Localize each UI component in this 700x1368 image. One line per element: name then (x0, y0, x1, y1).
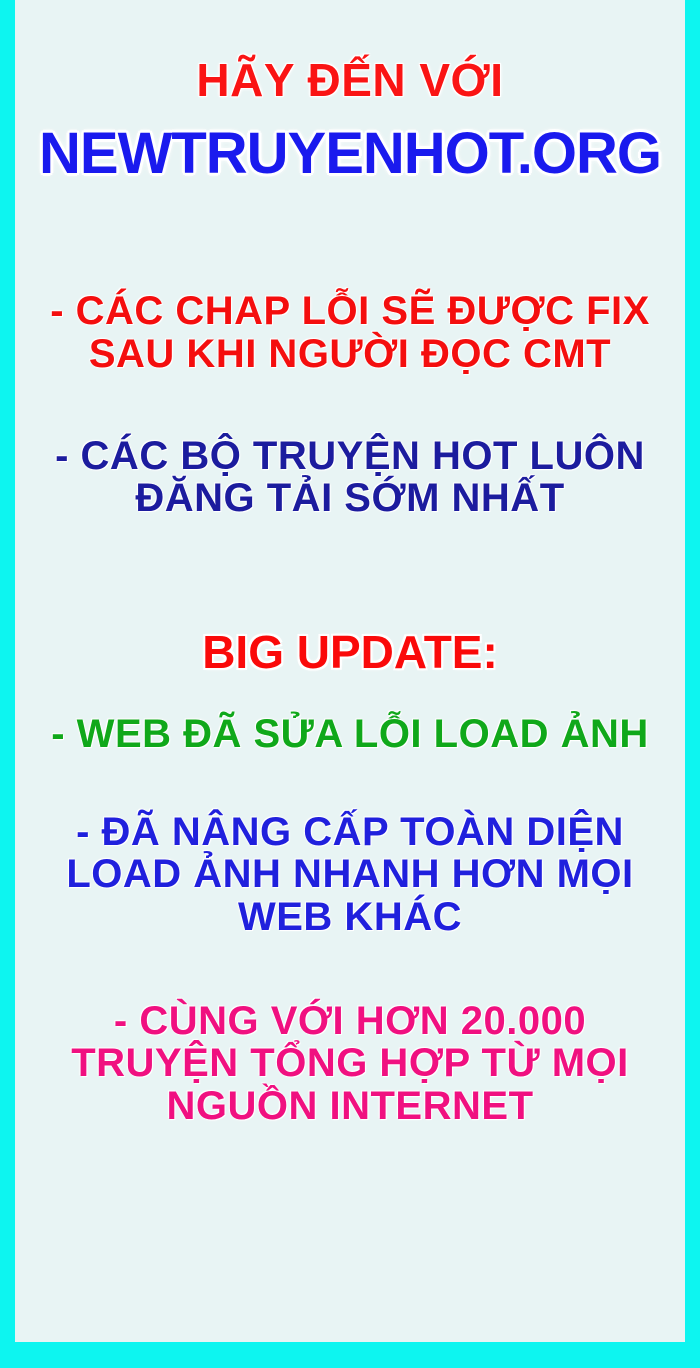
big-update-heading: BIG UPDATE: (15, 628, 685, 677)
banner-content-panel: HÃY ĐẾN VỚI NEWTRUYENHOT.ORG - CÁC CHAP … (15, 0, 685, 1342)
image-load-fix-line-1: - WEB ĐÃ SỬA LỖI LOAD ẢNH (51, 713, 649, 755)
chapter-fix-notice-line-1: - CÁC CHAP LỖI SẼ ĐƯỢC FIX (50, 290, 650, 332)
image-load-fix-update: - WEB ĐÃ SỬA LỖI LOAD ẢNH (51, 677, 649, 755)
banner-headline: HÃY ĐẾN VỚI (15, 56, 685, 105)
full-upgrade-line-2: LOAD ẢNH NHANH HƠN MỌI (66, 853, 633, 895)
full-upgrade-update: - ĐÃ NÂNG CẤP TOÀN DIỆN LOAD ẢNH NHANH H… (66, 811, 633, 938)
promo-banner: HÃY ĐẾN VỚI NEWTRUYENHOT.ORG - CÁC CHAP … (0, 0, 700, 1368)
full-upgrade-line-1: - ĐÃ NÂNG CẤP TOÀN DIỆN (66, 811, 633, 853)
library-size-line-3: NGUỒN INTERNET (71, 1085, 629, 1127)
hot-series-notice-line-2: ĐĂNG TẢI SỚM NHẤT (55, 477, 645, 519)
chapter-fix-notice: - CÁC CHAP LỖI SẼ ĐƯỢC FIX SAU KHI NGƯỜI… (50, 290, 650, 375)
library-size-line-1: - CÙNG VỚI HƠN 20.000 (71, 1000, 629, 1042)
hot-series-notice: - CÁC BỘ TRUYỆN HOT LUÔN ĐĂNG TẢI SỚM NH… (55, 435, 645, 520)
chapter-fix-notice-line-2: SAU KHI NGƯỜI ĐỌC CMT (50, 333, 650, 375)
library-size-update: - CÙNG VỚI HƠN 20.000 TRUYỆN TỔNG HỢP TỪ… (71, 1000, 629, 1127)
full-upgrade-line-3: WEB KHÁC (66, 896, 633, 938)
library-size-line-2: TRUYỆN TỔNG HỢP TỪ MỌI (71, 1042, 629, 1084)
site-url-text[interactable]: NEWTRUYENHOT.ORG (15, 123, 685, 184)
hot-series-notice-line-1: - CÁC BỘ TRUYỆN HOT LUÔN (55, 435, 645, 477)
